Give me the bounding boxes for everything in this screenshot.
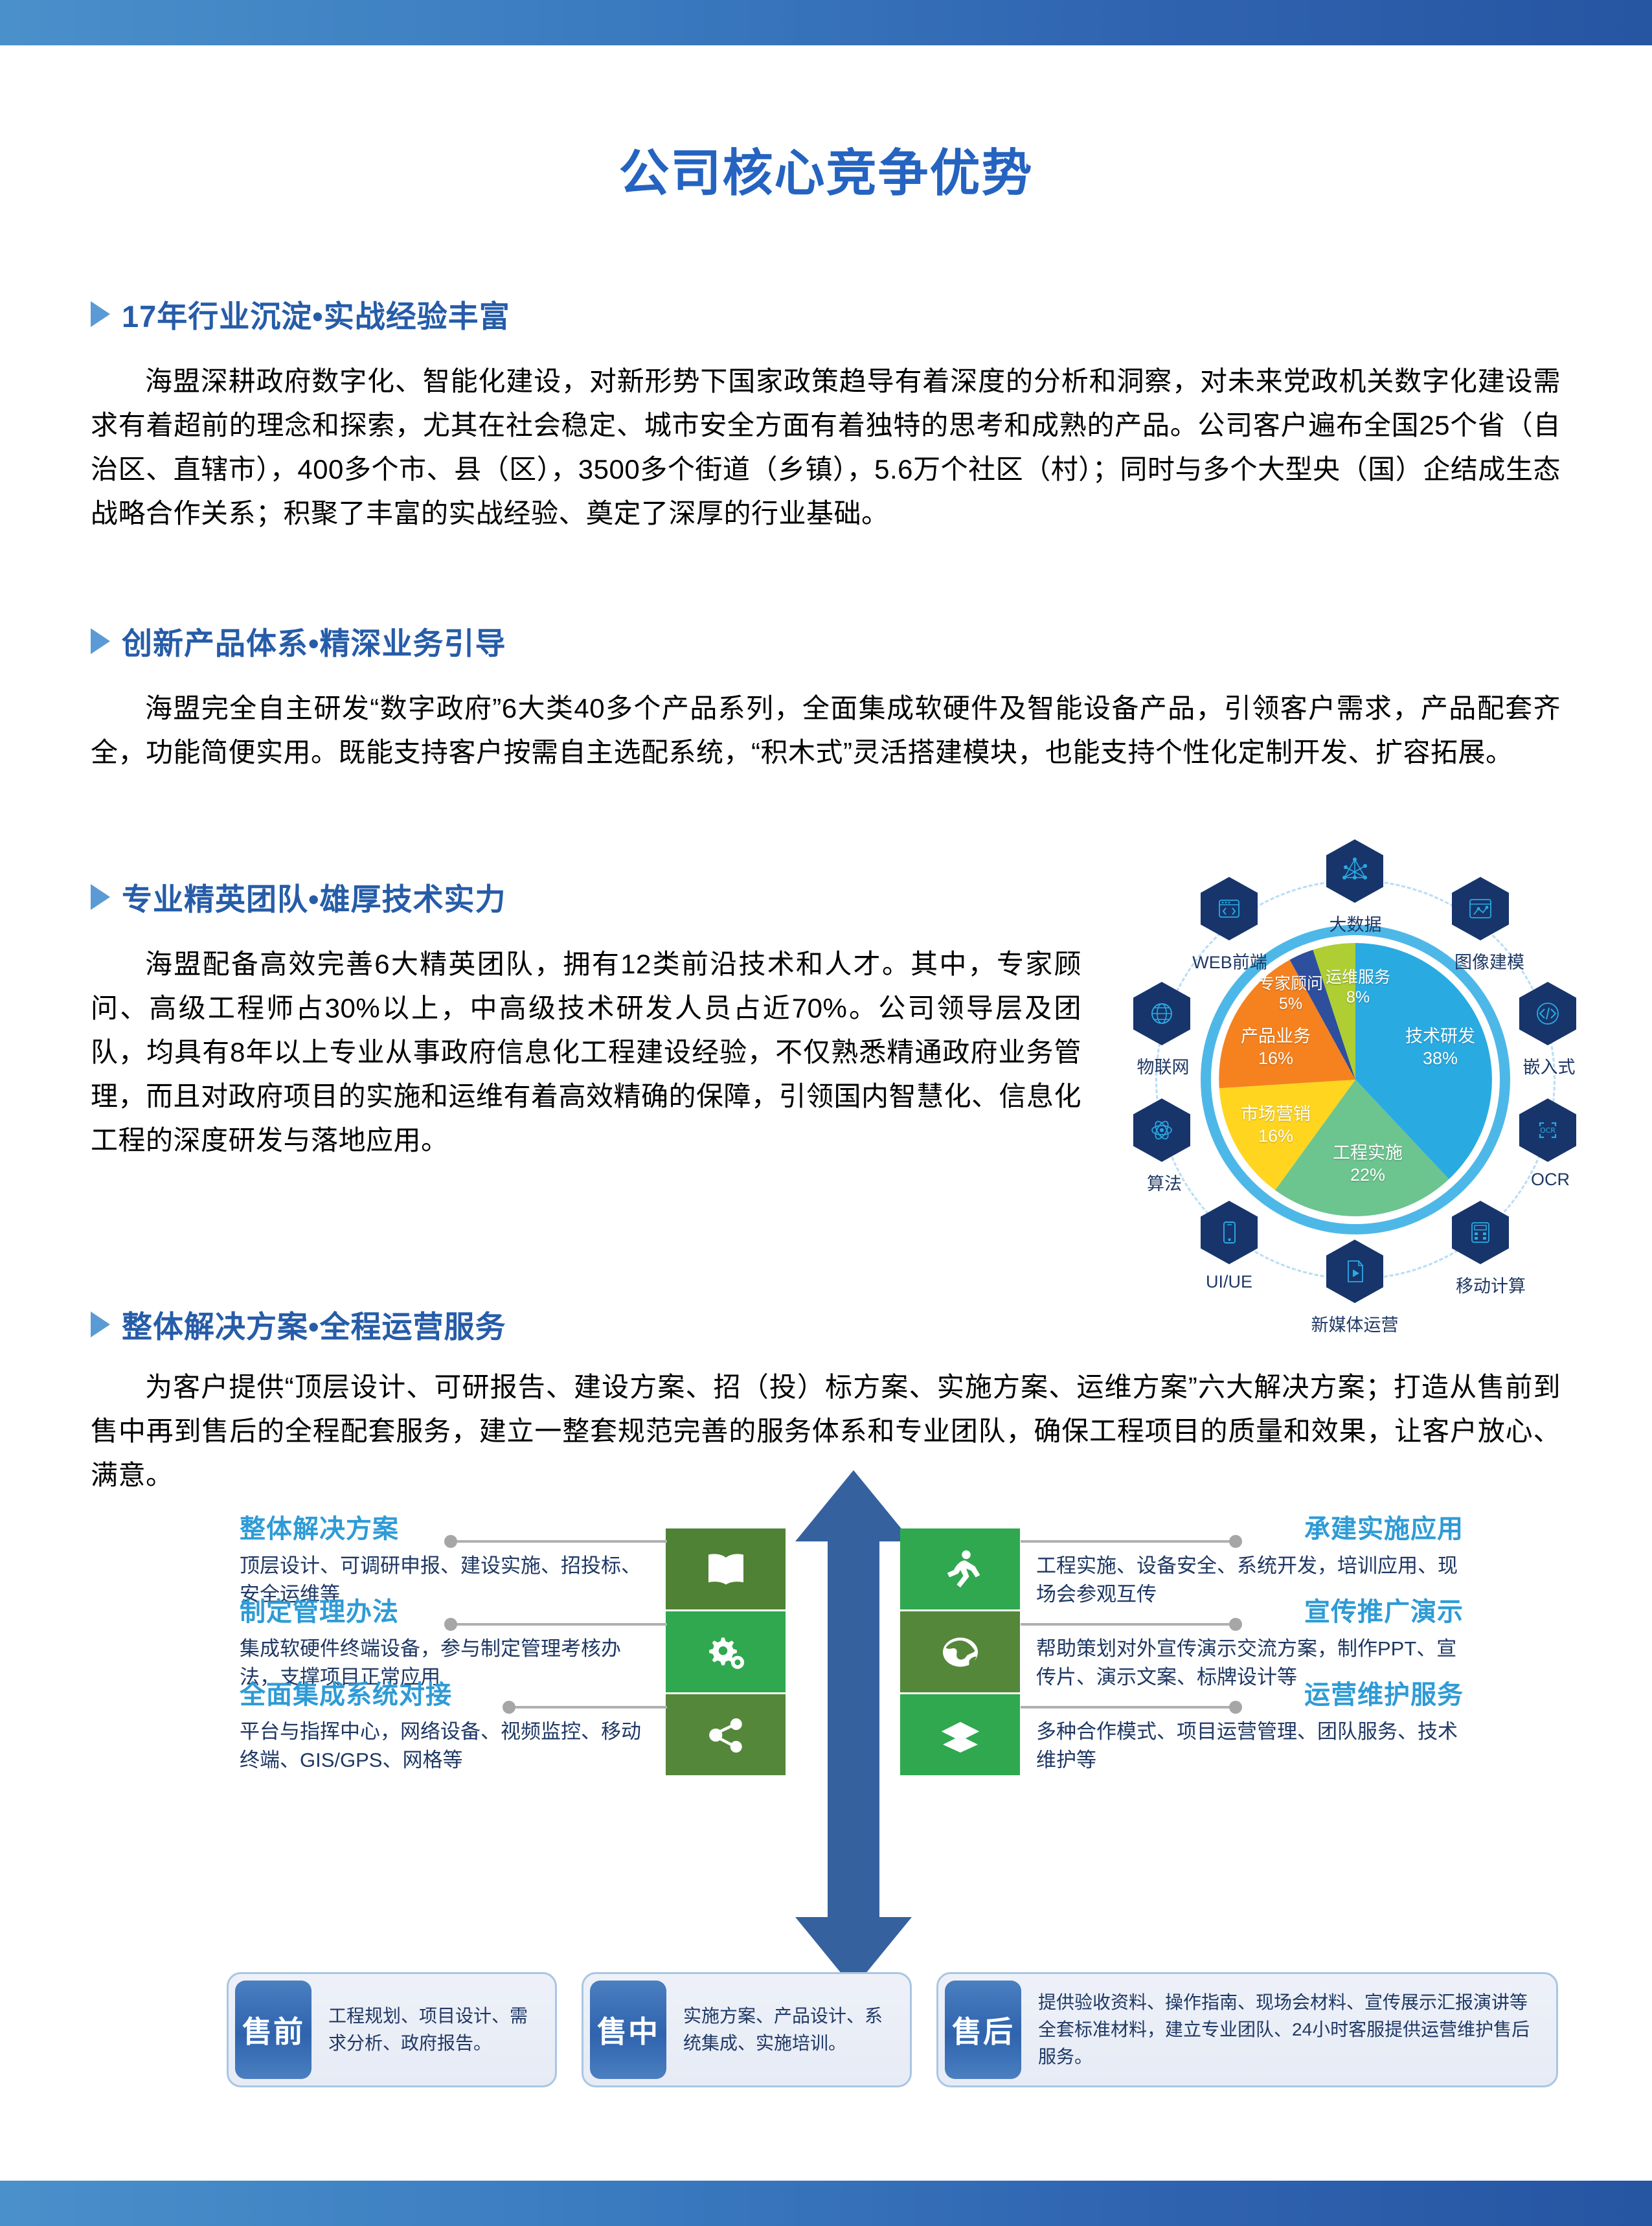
solution-item-left-3-desc: 平台与指挥中心，网络设备、视频监控、移动终端、GIS/GPS、网格等: [240, 1718, 654, 1775]
node-label-iot: 物联网: [1111, 1053, 1215, 1078]
section-heading-2: 创新产品体系•精深业务引导: [91, 619, 506, 663]
stage-text-presale: 工程规划、项目设计、需求分析、政府报告。: [318, 1974, 555, 2085]
image-model-icon: [1465, 893, 1496, 924]
triangle-bullet-icon: [91, 884, 110, 910]
solution-item-left-3-title: 全面集成系统对接: [240, 1674, 654, 1711]
tile-share-nodes[interactable]: [666, 1694, 786, 1775]
stage-badge-presale: 售前: [235, 1981, 311, 2079]
stage-text-aftersale: 提供验收资料、操作指南、现场会材料、宣传展示汇报演讲等全套标准材料，建立专业团队…: [1028, 1974, 1556, 2085]
solution-item-right-3-title: 运营维护服务: [1036, 1674, 1464, 1711]
running-person-icon: [937, 1546, 984, 1593]
solution-item-left-2-title: 制定管理办法: [240, 1591, 654, 1628]
node-label-image-modeling: 图像建模: [1431, 948, 1548, 973]
solution-service-diagram: 整体解决方案 顶层设计、可调研申报、建设实施、招投标、安全运维等 制定管理办法 …: [0, 1457, 1652, 2014]
section-heading-3-label: 专业精英团队•雄厚技术实力: [122, 874, 506, 919]
layers-icon: [937, 1712, 984, 1758]
triangle-bullet-icon: [91, 301, 110, 327]
stage-badge-aftersale: 售后: [945, 1981, 1021, 2079]
node-label-ocr: OCR: [1499, 1170, 1602, 1190]
section-heading-1-label: 17年行业沉淀•实战经验丰富: [122, 291, 510, 336]
stage-text-insale: 实施方案、产品设计、系统集成、实施培训。: [673, 1974, 910, 2085]
up-down-arrow-icon: [789, 1470, 918, 1988]
node-label-mobile-computing: 移动计算: [1426, 1272, 1556, 1297]
pie-label-engineering: 工程实施 22%: [1303, 1142, 1432, 1187]
pie-label-marketing: 市场营销 16%: [1217, 1104, 1334, 1148]
solution-item-right-1-title: 承建实施应用: [1036, 1508, 1464, 1545]
triangle-bullet-icon: [91, 1312, 110, 1337]
technology-wheel-chart: 技术研发 38% 工程实施 22% 市场营销 16% 产品业务 16% 专家顾问…: [1109, 839, 1601, 1332]
triangle-bullet-icon: [91, 628, 110, 654]
section-heading-1: 17年行业沉淀•实战经验丰富: [91, 291, 510, 336]
node-label-big-data: 大数据: [1294, 911, 1417, 936]
solution-item-left-3: 全面集成系统对接 平台与指挥中心，网络设备、视频监控、移动终端、GIS/GPS、…: [240, 1674, 654, 1775]
stage-badge-insale: 售中: [590, 1981, 666, 2079]
solution-item-left-1-title: 整体解决方案: [240, 1508, 654, 1545]
ocr-scan-icon: OCR: [1532, 1115, 1563, 1146]
section-heading-3: 专业精英团队•雄厚技术实力: [91, 874, 506, 919]
section-paragraph-1: 海盟深耕政府数字化、智能化建设，对新形势下国家政策趋导有着深度的分析和洞察，对未…: [91, 359, 1561, 536]
section-heading-2-label: 创新产品体系•精深业务引导: [122, 619, 506, 663]
tile-layers[interactable]: [900, 1694, 1020, 1775]
open-book-icon: [703, 1546, 749, 1593]
tile-running-person[interactable]: [900, 1528, 1020, 1609]
pie-label-ops-service: 运维服务 8%: [1303, 968, 1413, 1008]
node-label-web-frontend: WEB前端: [1168, 948, 1291, 973]
section-paragraph-3: 海盟配备高效完善6大精英团队，拥有12类前沿技术和人才。其中，专家顾问、高级工程…: [91, 942, 1081, 1163]
solution-item-right-3-desc: 多种合作模式、项目运营管理、团队服务、技术维护等: [1036, 1718, 1464, 1775]
stage-box-presale[interactable]: 售前 工程规划、项目设计、需求分析、政府报告。: [227, 1972, 557, 2087]
pie-label-tech-rd: 技术研发 38%: [1375, 1026, 1505, 1070]
tile-open-book[interactable]: [666, 1528, 786, 1609]
calculator-icon: [1465, 1217, 1496, 1248]
node-label-algorithm: 算法: [1113, 1170, 1216, 1195]
share-nodes-icon: [703, 1712, 749, 1758]
video-file-icon: [1339, 1256, 1370, 1287]
browser-code-icon: [1214, 893, 1245, 924]
stage-box-aftersale[interactable]: 售后 提供验收资料、操作指南、现场会材料、宣传展示汇报演讲等全套标准材料，建立专…: [936, 1972, 1558, 2087]
code-brackets-icon: [1532, 998, 1563, 1029]
globe-grid-icon: [1146, 998, 1177, 1029]
network-graph-icon: [1339, 856, 1370, 887]
node-label-new-media: 新媒体运营: [1290, 1311, 1420, 1336]
tile-gears[interactable]: [666, 1611, 786, 1692]
stage-box-insale[interactable]: 售中 实施方案、产品设计、系统集成、实施培训。: [582, 1972, 912, 2087]
pie-label-product-business: 产品业务 16%: [1217, 1026, 1334, 1070]
node-label-ui-ue: UI/UE: [1177, 1272, 1281, 1292]
section-heading-4: 整体解决方案•全程运营服务: [91, 1302, 506, 1346]
svg-text:OCR: OCR: [1540, 1126, 1556, 1135]
atom-icon: [1146, 1115, 1177, 1146]
section-heading-4-label: 整体解决方案•全程运营服务: [122, 1302, 506, 1346]
page-title: 公司核心竞争优势: [0, 133, 1652, 205]
solution-item-right-3: 运营维护服务 多种合作模式、项目运营管理、团队服务、技术维护等: [1036, 1674, 1489, 1775]
section-paragraph-2: 海盟完全自主研发“数字政府”6大类40多个产品系列，全面集成软硬件及智能设备产品…: [91, 687, 1561, 775]
globe-icon: [937, 1629, 984, 1675]
node-label-embedded: 嵌入式: [1497, 1053, 1601, 1078]
gears-icon: [703, 1629, 749, 1675]
smartphone-icon: [1214, 1217, 1245, 1248]
solution-item-right-2-title: 宣传推广演示: [1036, 1591, 1464, 1628]
header-band: [0, 0, 1652, 45]
tile-globe[interactable]: [900, 1611, 1020, 1692]
footer-band: [0, 2181, 1652, 2226]
